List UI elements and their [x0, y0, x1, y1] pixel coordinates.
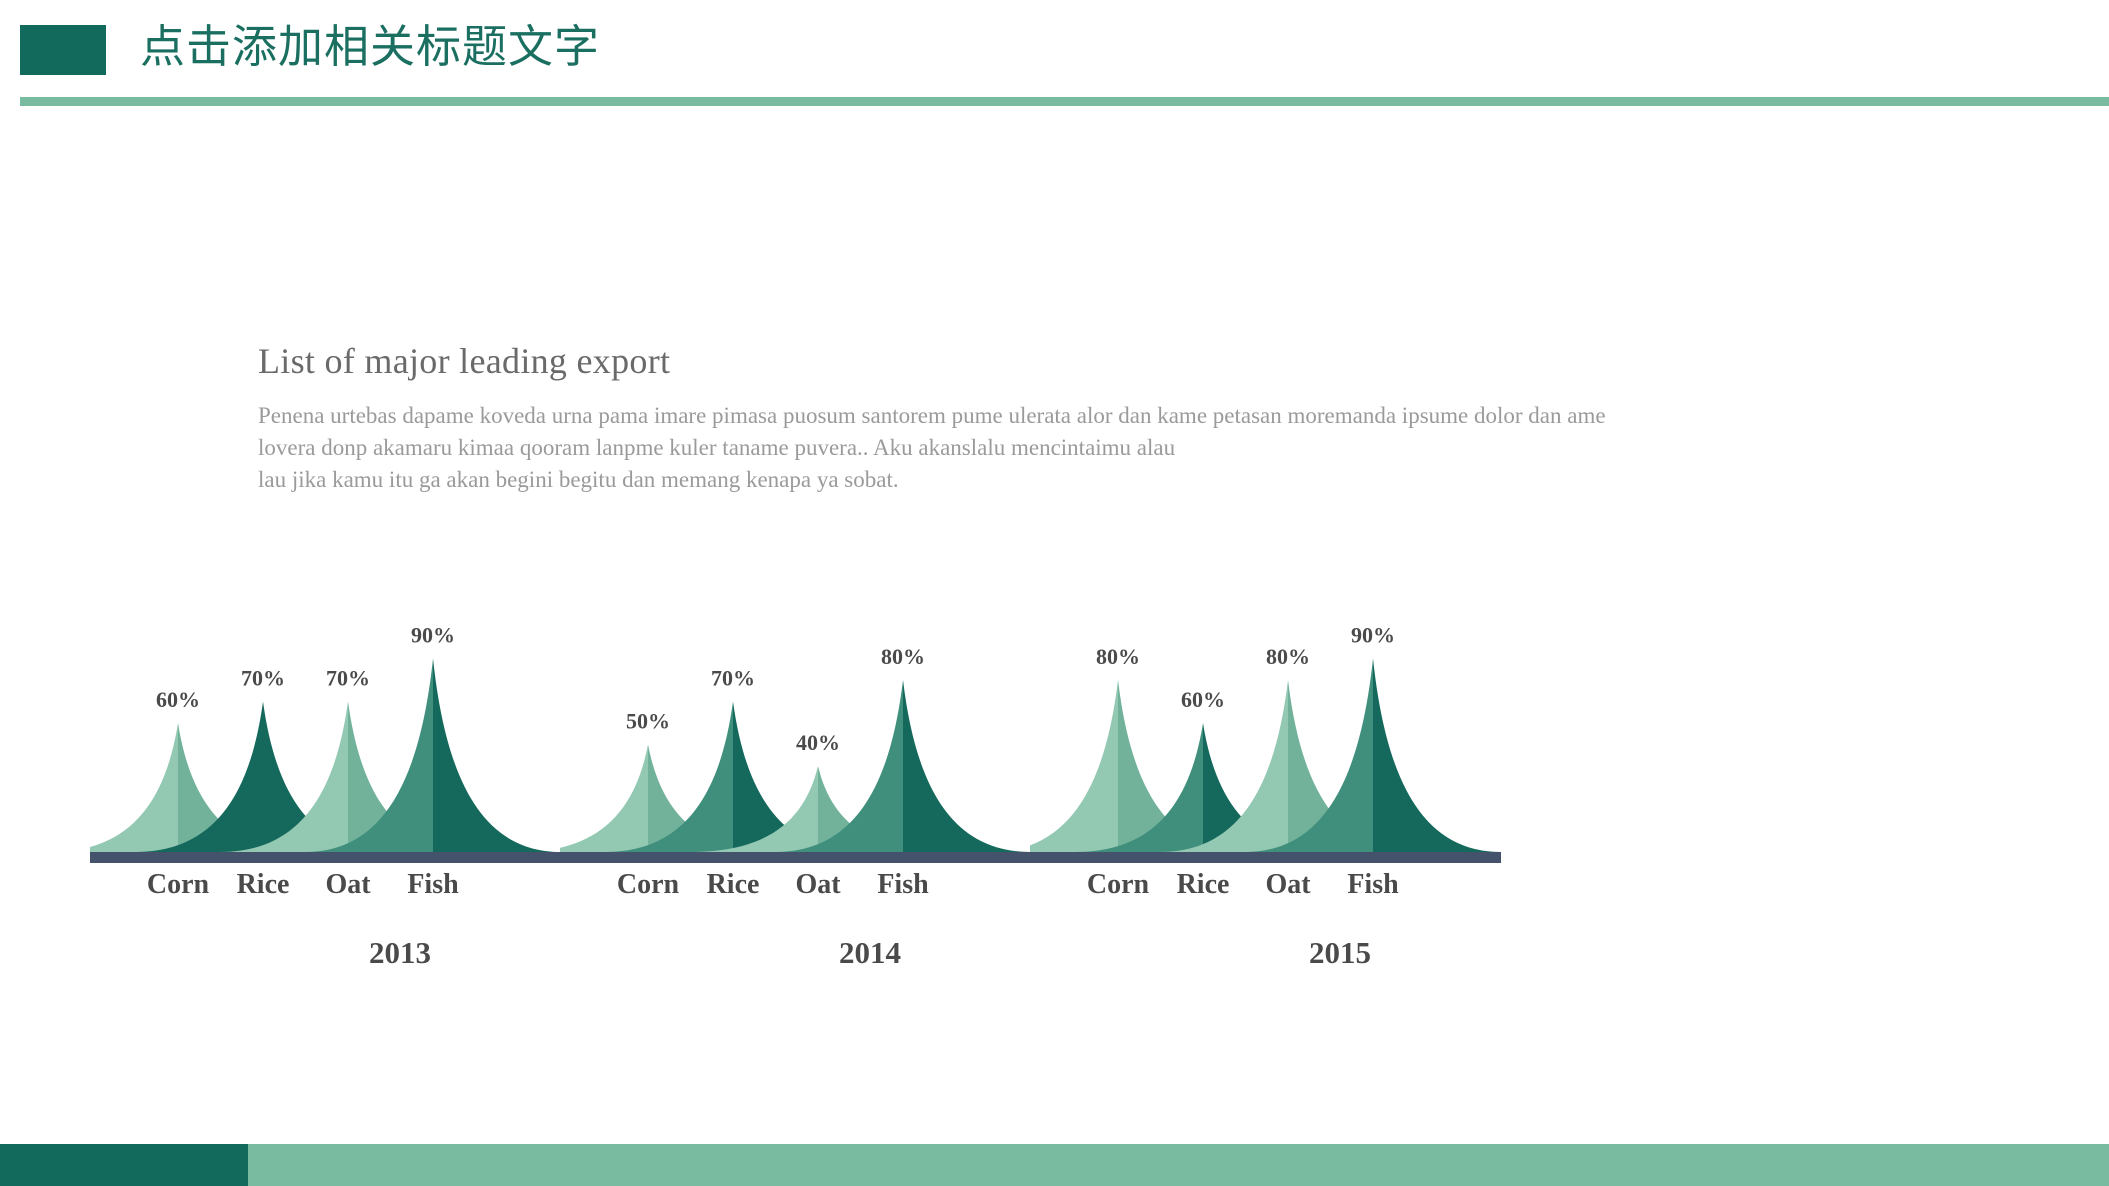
peak-shapes: [560, 680, 1031, 852]
intro-line-3: lau jika kamu itu ga akan begini begitu …: [258, 464, 1858, 496]
category-label-rice: Rice: [237, 869, 290, 900]
chart-year-label-2015: 2015: [1030, 935, 1650, 971]
footer-accent-dark: [0, 1144, 248, 1186]
peak-shapes: [1030, 659, 1501, 853]
chart-group-2015: 80%60%80%90%CornRiceOatFish 2015: [1030, 580, 1650, 1010]
peak-right-half: [433, 659, 561, 853]
intro-section: List of major leading export Penena urte…: [258, 340, 1858, 496]
peak-value-label: 80%: [1266, 644, 1310, 669]
peak-value-label: 80%: [881, 644, 925, 669]
peak-value-label: 90%: [1351, 623, 1395, 648]
peak-value-label: 80%: [1096, 644, 1140, 669]
peak-chart-2015: 80%60%80%90%CornRiceOatFish: [1030, 580, 1650, 920]
peak-left-half: [560, 745, 648, 853]
category-label-corn: Corn: [147, 869, 210, 900]
category-label-fish: Fish: [1347, 869, 1399, 900]
peak-value-label: 60%: [156, 687, 200, 712]
peak-value-label: 70%: [241, 666, 285, 691]
peak-value-label: 70%: [711, 666, 755, 691]
category-label-oat: Oat: [795, 869, 841, 900]
footer-accent-light: [248, 1144, 2109, 1186]
chart-baseline-axis: [560, 852, 1031, 863]
category-label-oat: Oat: [1265, 869, 1311, 900]
peak-left-half: [1030, 680, 1118, 852]
peak-left-half: [90, 723, 178, 852]
chart-baseline-axis: [90, 852, 561, 863]
category-label-rice: Rice: [707, 869, 760, 900]
chart-baseline-axis: [1030, 852, 1501, 863]
page-title: 点击添加相关标题文字: [140, 14, 600, 80]
peak-value-label: 70%: [326, 666, 370, 691]
intro-body-text: Penena urtebas dapame koveda urna pama i…: [258, 400, 1858, 496]
category-label-oat: Oat: [325, 869, 371, 900]
peak-right-half: [903, 680, 1031, 852]
category-label-rice: Rice: [1177, 869, 1230, 900]
category-label-fish: Fish: [877, 869, 929, 900]
category-label-fish: Fish: [407, 869, 459, 900]
charts-container: 60%70%70%90%CornRiceOatFish 2013 50%70%4…: [0, 580, 2109, 1010]
header-accent-block: [20, 25, 106, 75]
footer-bar: [0, 1144, 2109, 1186]
intro-line-2: lovera donp akamaru kimaa qooram lanpme …: [258, 432, 1858, 464]
peak-value-label: 40%: [796, 730, 840, 755]
category-label-corn: Corn: [1087, 869, 1150, 900]
peak-value-label: 90%: [411, 623, 455, 648]
peak-right-half: [1373, 659, 1501, 853]
intro-line-1: Penena urtebas dapame koveda urna pama i…: [258, 400, 1858, 432]
section-heading: List of major leading export: [258, 340, 1858, 382]
header-divider-rule: [20, 97, 2109, 106]
category-label-corn: Corn: [617, 869, 680, 900]
peak-value-label: 60%: [1181, 687, 1225, 712]
peak-value-label: 50%: [626, 709, 670, 734]
